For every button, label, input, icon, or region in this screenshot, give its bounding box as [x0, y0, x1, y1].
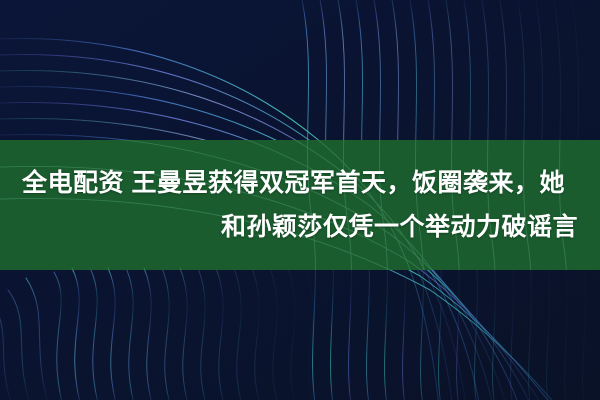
headline-line-2: 和孙颖莎仅凭一个举动力破谣言 — [221, 205, 578, 249]
headline-line-1: 全电配资 王曼昱获得双冠军首天，饭圈袭来，她 — [22, 161, 565, 205]
banner-image: 全电配资 王曼昱获得双冠军首天，饭圈袭来，她 和孙颖莎仅凭一个举动力破谣言 — [0, 0, 600, 400]
headline-text-block: 全电配资 王曼昱获得双冠军首天，饭圈袭来，她 和孙颖莎仅凭一个举动力破谣言 — [0, 140, 600, 270]
